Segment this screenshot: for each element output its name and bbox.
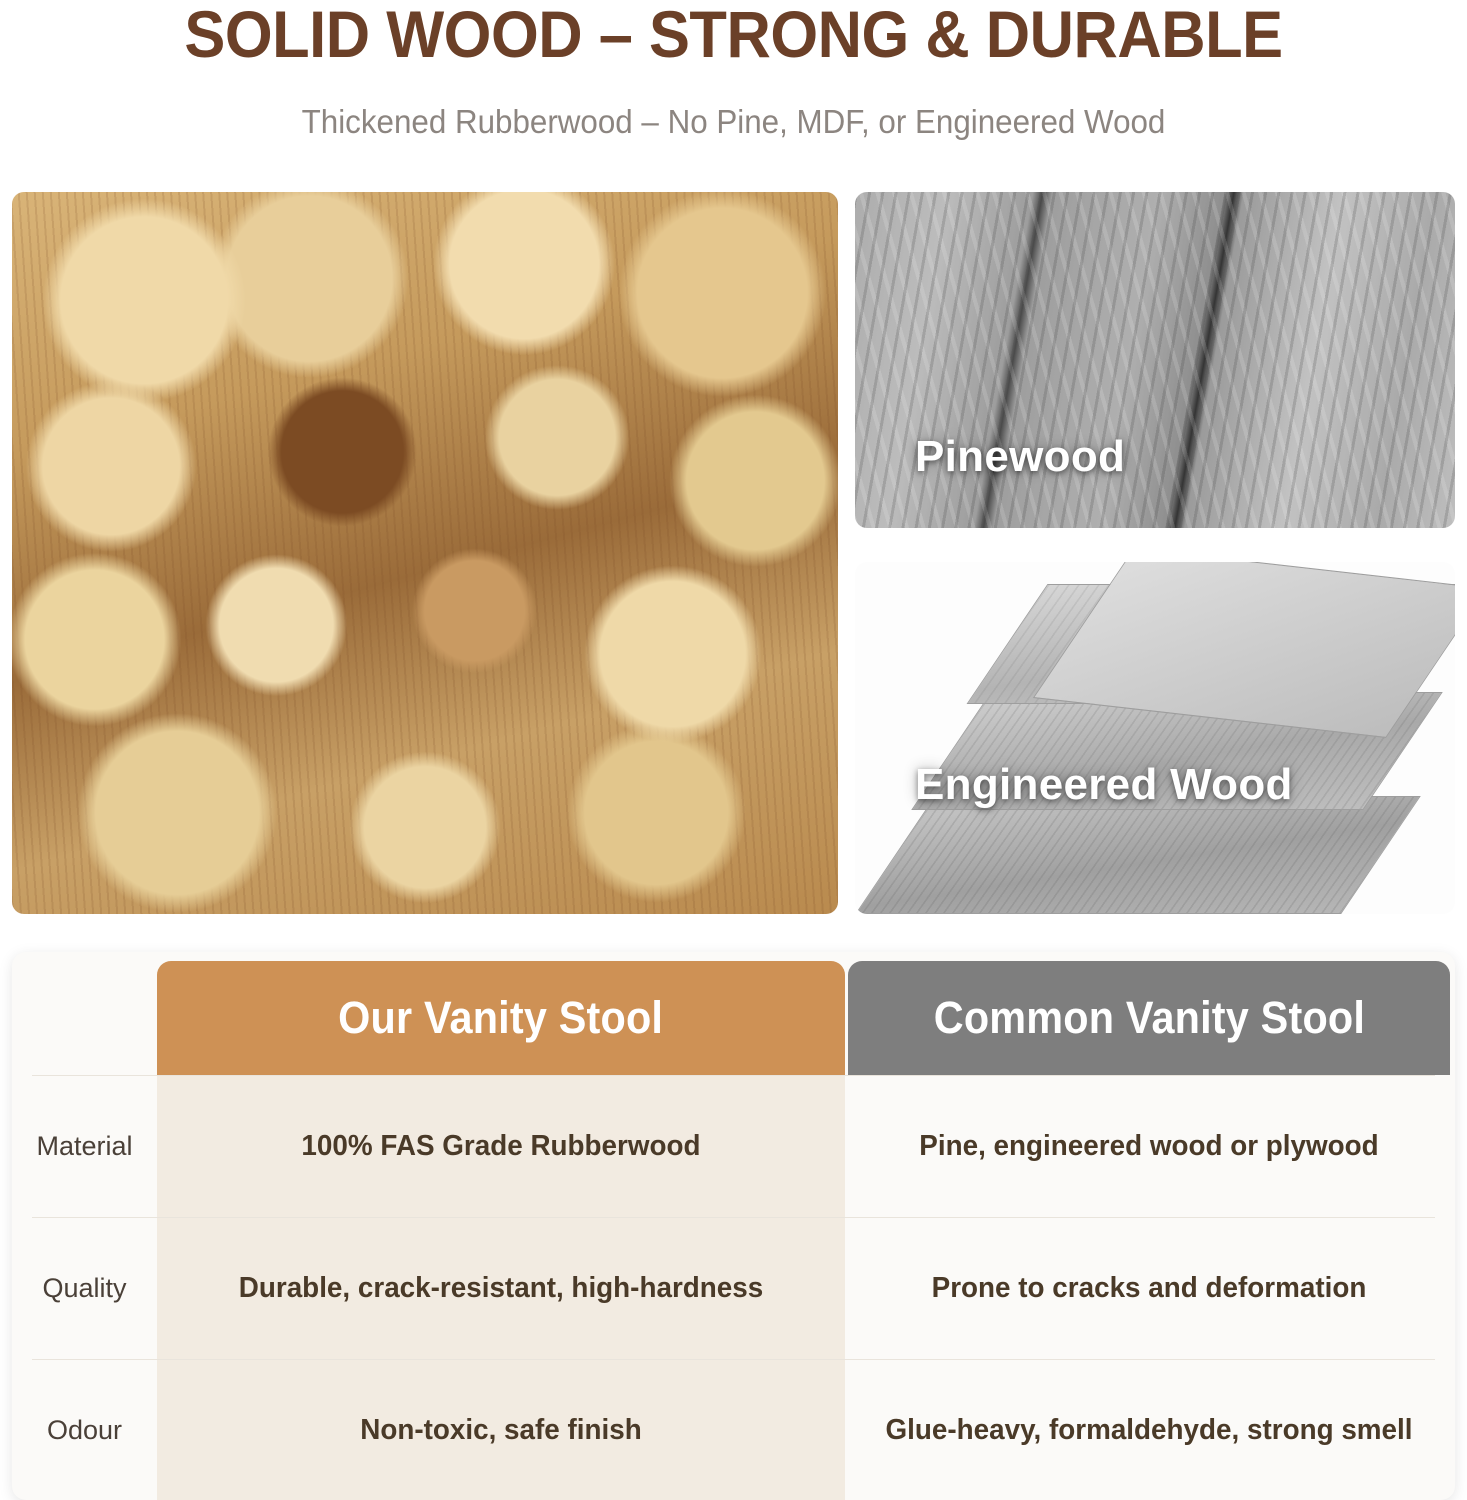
row-value-ours: Non-toxic, safe finish — [171, 1359, 831, 1500]
row-value-ours: Durable, crack-resistant, high-hardness — [171, 1217, 831, 1359]
row-value-common: Prone to cracks and deformation — [860, 1217, 1438, 1359]
row-value-ours: 100% FAS Grade Rubberwood — [171, 1075, 831, 1217]
row-label: Odour — [12, 1359, 157, 1500]
infographic-page: SOLID WOOD – STRONG & DURABLE Thickened … — [0, 0, 1467, 1500]
page-title: SOLID WOOD – STRONG & DURABLE — [51, 0, 1415, 70]
column-header-ours: Our Vanity Stool — [157, 961, 845, 1075]
table-row: Quality Durable, crack-resistant, high-h… — [12, 1217, 1455, 1359]
row-label: Quality — [12, 1217, 157, 1359]
table-row: Material 100% FAS Grade Rubberwood Pine,… — [12, 1075, 1455, 1217]
engineered-wood-label: Engineered Wood — [915, 760, 1293, 810]
table-row: Odour Non-toxic, safe finish Glue-heavy,… — [12, 1359, 1455, 1500]
row-value-common: Glue-heavy, formaldehyde, strong smell — [860, 1359, 1438, 1500]
page-subtitle: Thickened Rubberwood – No Pine, MDF, or … — [37, 101, 1431, 143]
logs-photo — [12, 192, 838, 914]
row-label: Material — [12, 1075, 157, 1217]
engineered-wood-photo: Engineered Wood — [855, 562, 1455, 914]
row-value-common: Pine, engineered wood or plywood — [860, 1075, 1438, 1217]
board-bottom — [855, 796, 1421, 914]
column-header-common: Common Vanity Stool — [848, 961, 1450, 1075]
pinewood-label: Pinewood — [915, 432, 1125, 482]
pinewood-photo: Pinewood — [855, 192, 1455, 528]
header: SOLID WOOD – STRONG & DURABLE Thickened … — [0, 0, 1467, 170]
column-header-common-label: Common Vanity Stool — [933, 992, 1364, 1044]
comparison-table: Our Vanity Stool Common Vanity Stool Mat… — [12, 952, 1455, 1500]
column-header-ours-label: Our Vanity Stool — [339, 992, 664, 1044]
